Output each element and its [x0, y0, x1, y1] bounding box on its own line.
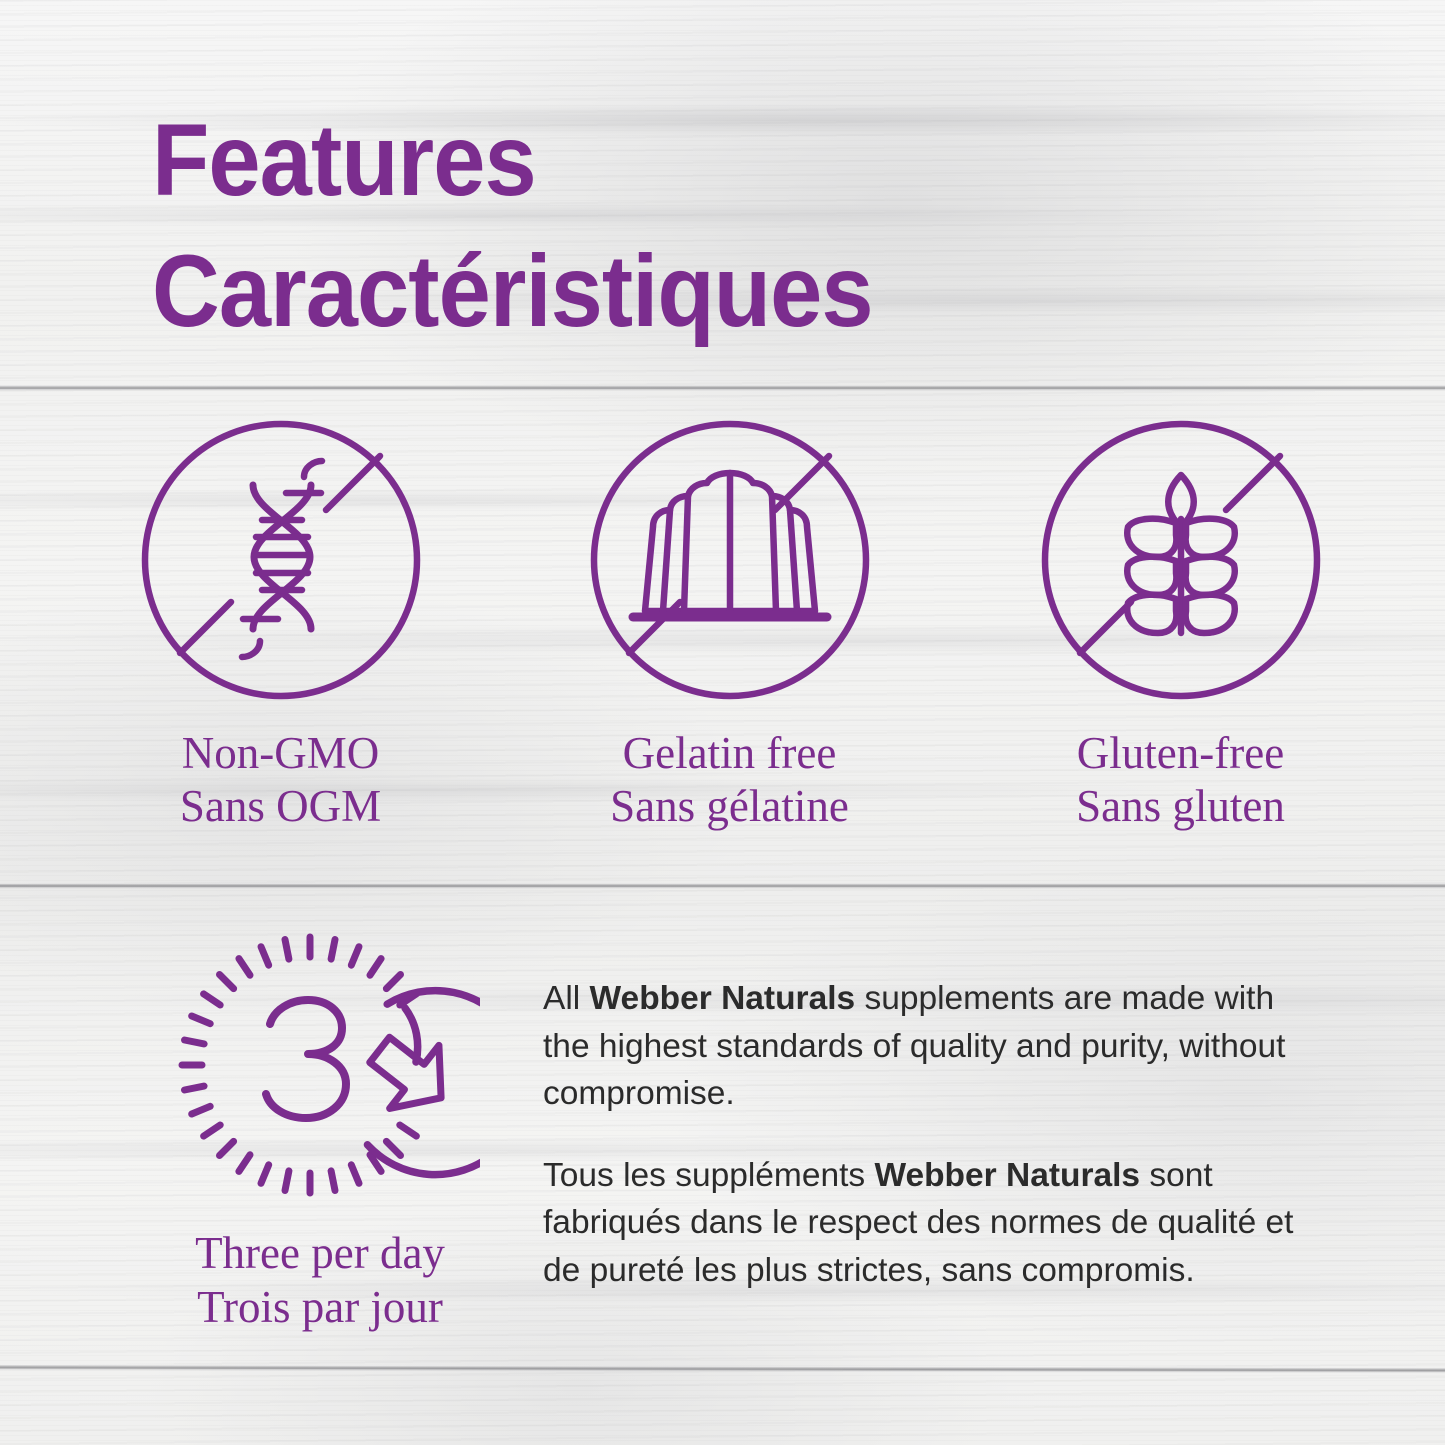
- brand-copy-en-before: All: [543, 980, 590, 1017]
- no-gelatin-mold-icon: [585, 415, 875, 705]
- feature-label-non-gmo-fr: Sans OGM: [180, 780, 381, 833]
- feature-label-gelatin-free-en: Gelatin free: [623, 728, 837, 778]
- brand-name-fr: Webber Naturals: [874, 1157, 1140, 1194]
- page-title: Features Caractéristiques: [152, 95, 1210, 356]
- brand-name-en: Webber Naturals: [590, 980, 856, 1017]
- dosage-label-fr: Trois par jour: [195, 1280, 445, 1334]
- feature-icon-row: Non-GMO Sans OGM: [0, 415, 1445, 845]
- brand-copy-fr: Tous les suppléments Webber Naturals son…: [543, 1152, 1318, 1295]
- page-title-en: Features: [152, 95, 1210, 226]
- dosage-block: Three per day Trois par jour: [120, 920, 520, 1334]
- feature-label-gluten-free-fr: Sans gluten: [1076, 780, 1285, 833]
- feature-label-non-gmo-en: Non-GMO: [182, 728, 380, 778]
- feature-label-gelatin-free: Gelatin free Sans gélatine: [610, 727, 849, 833]
- feature-label-gluten-free-en: Gluten-free: [1077, 728, 1284, 778]
- no-gluten-wheat-icon: [1036, 415, 1326, 705]
- feature-label-non-gmo: Non-GMO Sans OGM: [180, 727, 381, 833]
- brand-copy-block: All Webber Naturals supplements are made…: [543, 975, 1318, 1328]
- feature-label-gelatin-free-fr: Sans gélatine: [610, 780, 849, 833]
- feature-item-non-gmo: Non-GMO Sans OGM: [60, 415, 501, 845]
- dosage-label: Three per day Trois par jour: [195, 1226, 445, 1334]
- feature-item-gelatin-free: Gelatin free Sans gélatine: [509, 415, 950, 845]
- feature-label-gluten-free: Gluten-free Sans gluten: [1076, 727, 1285, 833]
- features-panel: Features Caractéristiques: [0, 0, 1445, 1445]
- page-title-fr: Caractéristiques: [152, 226, 1210, 357]
- brand-copy-fr-before: Tous les suppléments: [543, 1157, 874, 1194]
- no-gmo-dna-icon: [136, 415, 426, 705]
- three-per-day-circular-arrow-icon: [160, 920, 480, 1220]
- dosage-label-en: Three per day: [195, 1228, 445, 1278]
- brand-copy-en: All Webber Naturals supplements are made…: [543, 975, 1318, 1118]
- feature-item-gluten-free: Gluten-free Sans gluten: [960, 415, 1401, 845]
